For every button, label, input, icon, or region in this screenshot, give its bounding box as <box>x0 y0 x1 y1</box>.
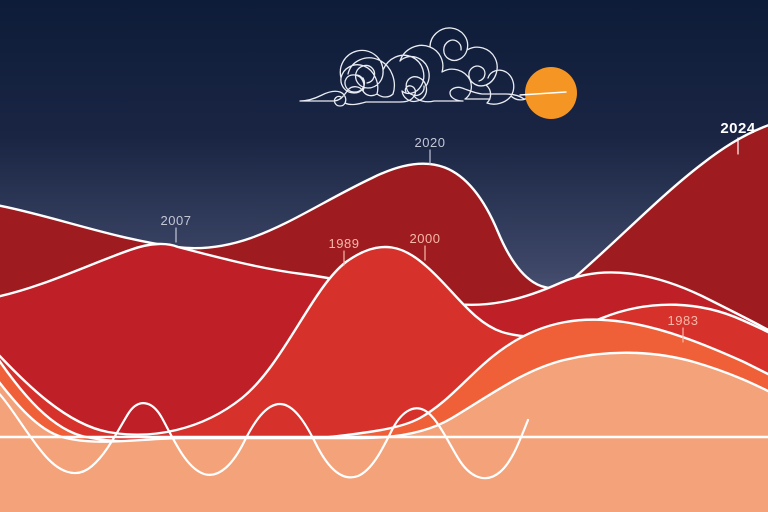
scene-svg <box>0 0 768 512</box>
illustration-canvas: 2007 2020 2024 1989 2000 1983 <box>0 0 768 512</box>
